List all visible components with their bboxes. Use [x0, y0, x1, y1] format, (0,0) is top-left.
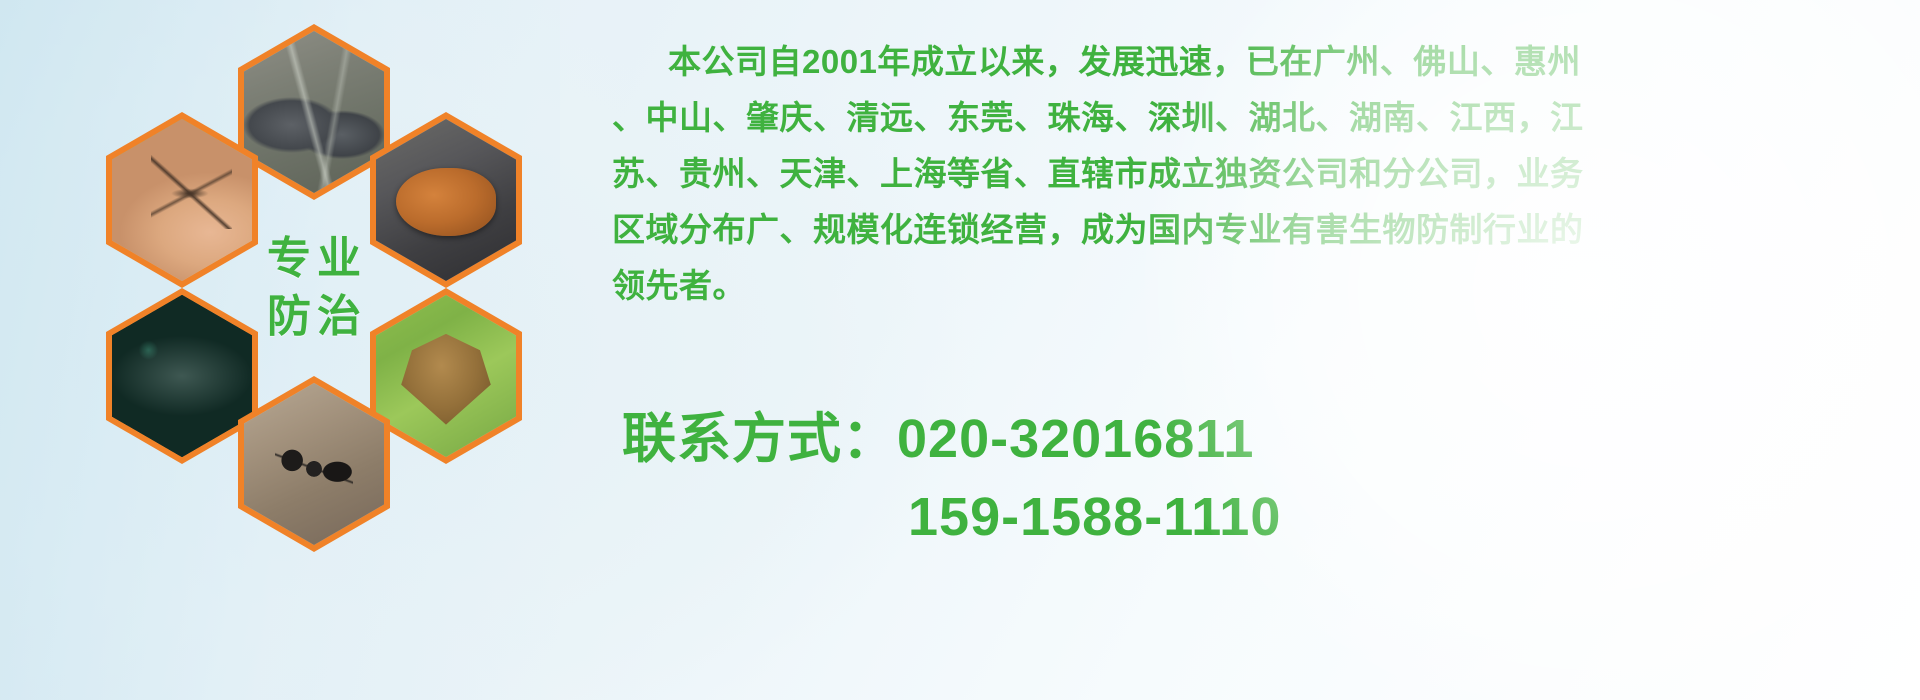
- ant-photo: [244, 383, 384, 545]
- hex-cell-stink-bug[interactable]: [370, 288, 522, 464]
- hex-cell-mosquito[interactable]: [106, 112, 258, 288]
- hex-cell-ant[interactable]: [238, 376, 390, 552]
- promo-banner: 专业 防治 本公司自2001年成立以来，发展迅速，已在广州、佛山、惠州 、中山、…: [0, 0, 1920, 700]
- contact-phone-secondary[interactable]: 159-1588-1110: [622, 478, 1281, 556]
- slogan-line-2: 防治: [261, 288, 367, 346]
- intro-line-4: 区域分布广、规模化连锁经营，成为国内专业有害生物防制行业的: [612, 202, 1912, 258]
- hex-cell-slogan: 专业 防治: [238, 200, 390, 376]
- company-intro: 本公司自2001年成立以来，发展迅速，已在广州、佛山、惠州 、中山、肇庆、清远、…: [612, 34, 1912, 314]
- hex-cell-rats[interactable]: [238, 24, 390, 200]
- hex-cell-flies[interactable]: [106, 288, 258, 464]
- flies-photo: [112, 295, 252, 457]
- contact-phone-primary[interactable]: 联系方式：020-32016811: [622, 400, 1281, 478]
- hex-cell-cockroach[interactable]: [370, 112, 522, 288]
- rat-photo: [244, 31, 384, 193]
- intro-line-3: 苏、贵州、天津、上海等省、直辖市成立独资公司和分公司，业务: [612, 146, 1912, 202]
- contact-block: 联系方式：020-32016811 159-1588-1110: [622, 400, 1281, 556]
- intro-line-5: 领先者。: [612, 258, 1912, 314]
- honeycomb-gallery: 专业 防治: [86, 8, 586, 568]
- stink-bug-photo: [376, 295, 516, 457]
- mosquito-photo: [112, 119, 252, 281]
- slogan-line-1: 专业: [261, 230, 367, 288]
- cockroach-photo: [376, 119, 516, 281]
- intro-line-2: 、中山、肇庆、清远、东莞、珠海、深圳、湖北、湖南、江西，江: [612, 90, 1912, 146]
- intro-line-1: 本公司自2001年成立以来，发展迅速，已在广州、佛山、惠州: [612, 34, 1912, 90]
